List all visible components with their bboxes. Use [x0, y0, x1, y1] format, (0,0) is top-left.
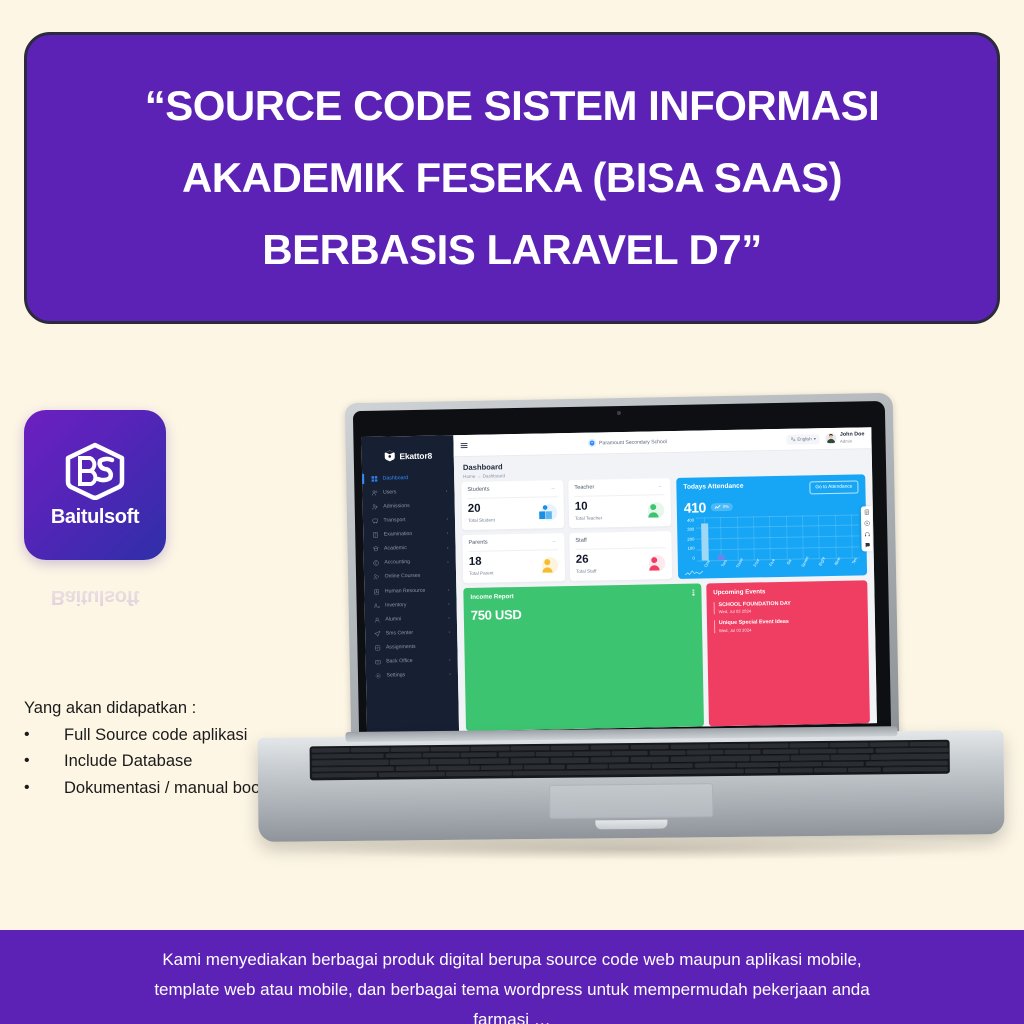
keyboard-key	[630, 757, 669, 763]
keyboard-key	[745, 769, 778, 775]
chevron-right-icon: ›	[448, 587, 450, 593]
sidebar-item-label: Transport	[383, 517, 441, 525]
sidebar-item-label: Human Resource	[385, 587, 443, 595]
keyboard-key	[498, 752, 534, 758]
stat-value: 20	[468, 504, 495, 516]
attendance-trend-value: 0%	[723, 504, 729, 509]
keyboard-key	[611, 751, 647, 757]
attendance-card: Todays Attendance Go to Attendance 410 0…	[676, 474, 867, 579]
footer-banner: Kami menyediakan berbagai produk digital…	[0, 930, 1024, 1024]
keyboard-key	[791, 755, 830, 761]
laptop-base	[257, 730, 1004, 842]
keyboard-key	[780, 762, 821, 768]
bar-slot	[777, 515, 794, 558]
keyboard-key	[438, 765, 479, 771]
sparkline-icon	[685, 569, 703, 575]
keyboard-key	[379, 772, 445, 778]
keyboard-key	[390, 760, 429, 766]
chevron-right-icon: ›	[449, 658, 451, 664]
keyboard-key	[737, 762, 778, 768]
laptop-mockup: Ekattor8 Dashboard Users › Admiss	[258, 398, 1004, 868]
translate-icon	[790, 437, 795, 442]
keyboard-key	[687, 750, 723, 756]
grid-icon	[371, 475, 378, 482]
keyboard-key	[574, 751, 610, 757]
alumni-icon	[374, 616, 381, 623]
sidebar-item-label: Online Courses	[385, 573, 445, 581]
keyboard-key	[470, 759, 509, 765]
laptop-screen: Ekattor8 Dashboard Users › Admiss	[353, 401, 891, 739]
stat-subtitle: Total Student	[468, 517, 495, 523]
keyboard-key	[511, 745, 550, 751]
accounting-icon	[373, 560, 380, 567]
stat-card-students[interactable]: Students → 20 Total Student	[461, 480, 564, 530]
keyboard-key	[609, 764, 650, 770]
keyboard-key	[814, 768, 847, 774]
keyboard-key	[395, 766, 436, 772]
chevron-right-icon: ›	[446, 517, 448, 523]
stat-card-parents[interactable]: Parents → 18 Total Parent	[462, 533, 565, 583]
chat-icon[interactable]	[864, 542, 870, 548]
stat-card-staff[interactable]: Staff 26 Total Staff	[569, 531, 672, 581]
event-date: Wed, Jul 03 2024	[719, 606, 861, 614]
inventory-icon	[374, 602, 381, 609]
footer-line-3: farmasi …	[473, 1006, 550, 1024]
upcoming-events-card: Upcoming Events SCHOOL FOUNDATION DAY We…	[706, 580, 870, 727]
events-title: Upcoming Events	[713, 586, 860, 596]
income-value: 750 USD	[471, 603, 695, 622]
chevron-right-icon: ›	[448, 601, 450, 607]
keyboard-key	[694, 763, 735, 769]
app-sidebar: Ekattor8 Dashboard Users › Admiss	[361, 435, 459, 733]
webcam-icon	[617, 411, 621, 415]
arrow-right-icon[interactable]: →	[549, 538, 558, 545]
assignment-icon	[374, 645, 381, 652]
stat-value: 26	[576, 555, 597, 567]
bar-slot	[745, 516, 762, 559]
keyboard-key	[431, 746, 470, 752]
headset-icon[interactable]	[864, 531, 870, 537]
keyboard-key	[838, 748, 874, 754]
keyboard-key	[550, 745, 589, 751]
app-main: Paramount Secondary School English ▾	[453, 427, 877, 731]
y-tick: 400	[687, 517, 694, 522]
user-role: Admin	[840, 439, 865, 445]
stat-value: 18	[469, 557, 494, 569]
keyboard-key	[630, 744, 669, 750]
app-logo[interactable]: Ekattor8	[362, 442, 455, 472]
sidebar-item-label: Dashboard	[383, 474, 443, 482]
keyboard-key	[391, 747, 430, 753]
exam-icon	[372, 532, 379, 539]
stat-subtitle: Total Parent	[469, 570, 494, 575]
school-name: Paramount Secondary School	[599, 439, 667, 446]
keyboard-key	[649, 750, 685, 756]
stat-title: Students	[467, 487, 489, 493]
school-crest-icon	[587, 438, 596, 447]
headline-banner: “SOURCE CODE SISTEM INFORMASI AKADEMIK F…	[24, 32, 1000, 324]
headline-line-2: AKADEMIK FESEKA (BISA SAAS)	[182, 146, 842, 210]
sidebar-item-label: Sms Center	[386, 629, 444, 637]
attendance-value: 410	[684, 499, 706, 515]
laptop-lid: Ekattor8 Dashboard Users › Admiss	[345, 393, 900, 749]
keyboard-key	[311, 760, 389, 766]
keyboard-key	[871, 754, 949, 760]
keyboard-key	[780, 768, 813, 774]
go-to-attendance-button[interactable]: Go to Attendance	[809, 480, 858, 494]
bar-slot	[696, 517, 713, 560]
x-tick-label: Ten	[850, 556, 864, 567]
parent-icon	[537, 555, 559, 575]
teacher-icon	[643, 500, 665, 520]
keyboard-key	[430, 759, 469, 765]
chevron-right-icon: ›	[449, 672, 451, 678]
stat-value: 10	[575, 502, 602, 514]
hamburger-menu-icon[interactable]	[461, 443, 468, 449]
keyboard-key	[823, 761, 864, 767]
keyboard-key	[762, 749, 798, 755]
chart-plot-area: OneTwoThreeFourFiveSixSevenEightNineTen	[696, 514, 860, 574]
sidebar-item-settings[interactable]: Settings ›	[366, 667, 458, 683]
income-report-card: Income Report 750 USD	[463, 583, 703, 731]
bus-icon	[372, 518, 379, 525]
keyboard-key	[311, 766, 394, 772]
keyboard-key	[750, 743, 789, 749]
keyboard-key	[566, 764, 607, 770]
dashboard-app: Ekattor8 Dashboard Users › Admiss	[361, 427, 877, 733]
bar-slot	[712, 516, 729, 559]
laptop-latch	[595, 820, 667, 830]
keyboard-key	[590, 745, 629, 751]
chevron-right-icon: ›	[447, 531, 449, 537]
keyboard-key	[550, 758, 589, 764]
avatar	[826, 433, 837, 444]
sidebar-item-label: Back Office	[386, 657, 444, 665]
keyboard-key	[481, 765, 522, 771]
keyboard-key	[590, 757, 629, 763]
keyboard-key	[524, 765, 565, 771]
bar-slot	[729, 516, 746, 559]
sidebar-item-label: Examination	[384, 531, 442, 539]
keyboard-key	[385, 753, 421, 759]
keyboard-key	[831, 755, 870, 761]
brand-tile: Baitulsoft	[24, 410, 166, 560]
bar-slot	[810, 515, 827, 558]
headline-line-3: BERBASIS LARAVEL D7”	[262, 218, 762, 282]
arrow-right-icon[interactable]: →	[655, 483, 664, 490]
bar-slot	[794, 515, 811, 558]
keyboard-key	[800, 749, 836, 755]
stat-title: Staff	[575, 538, 587, 544]
app-logo-text: Ekattor8	[399, 450, 432, 461]
sidebar-item-label: Academic	[384, 545, 442, 553]
arrow-right-icon[interactable]	[656, 536, 665, 543]
list-item[interactable]: SCHOOL FOUNDATION DAY Wed, Jul 03 2024	[713, 599, 860, 614]
brand-reflection: Baitulsoft	[24, 562, 166, 608]
brand-reflection-name: Baitulsoft	[51, 585, 139, 608]
chart-bars	[696, 514, 860, 560]
keyboard-key	[311, 747, 350, 753]
event-date: Wed, Jul 03 2024	[719, 625, 861, 633]
chart-y-axis: 400 300 200 100 0	[684, 517, 697, 574]
language-label: English	[797, 436, 811, 441]
keyboard-key	[536, 752, 572, 758]
chart-x-axis: OneTwoThreeFourFiveSixSevenEightNineTen	[697, 557, 860, 574]
stat-title: Teacher	[574, 485, 594, 491]
bottom-row: Income Report 750 USD Upcoming Events SC…	[456, 575, 877, 731]
chevron-right-icon: ›	[447, 559, 449, 565]
kebab-menu-icon[interactable]	[693, 589, 694, 595]
bar-slot	[826, 514, 843, 557]
y-tick: 300	[687, 527, 694, 532]
keyboard-key	[882, 767, 948, 773]
list-item[interactable]: Unique Special Event Ideas Wed, Jul 03 2…	[714, 617, 861, 632]
keyboard-key	[830, 742, 869, 748]
chevron-down-icon: ▾	[814, 436, 816, 442]
keyboard-key	[870, 742, 909, 748]
stat-card-teacher[interactable]: Teacher → 10 Total Teacher	[568, 478, 671, 528]
keyboard-key	[423, 753, 459, 759]
y-tick: 200	[687, 536, 694, 541]
floating-dock	[861, 506, 873, 551]
keyboard-key	[790, 742, 829, 748]
keyboard-key	[865, 761, 948, 767]
sidebar-item-label: Admissions	[383, 502, 443, 510]
school-identity: Paramount Secondary School	[473, 435, 780, 450]
backoffice-icon	[375, 659, 382, 666]
stat-title: Parents	[468, 540, 487, 546]
sidebar-item-label: Inventory	[385, 601, 443, 609]
course-icon	[373, 574, 380, 581]
sidebar-item-label: Settings	[386, 672, 444, 680]
dashboard-grid: Students → 20 Total Student	[454, 474, 874, 583]
keyboard-key	[510, 758, 549, 764]
academic-icon	[372, 546, 379, 553]
keyboard-key	[311, 754, 384, 760]
keyboard-key	[652, 763, 693, 769]
stat-subtitle: Total Staff	[576, 568, 596, 573]
chevron-right-icon: ›	[447, 545, 449, 551]
keyboard-key	[670, 757, 709, 763]
keyboard-key	[710, 743, 749, 749]
hr-icon	[373, 588, 380, 595]
keyboard-key	[461, 752, 497, 758]
laptop-keyboard	[310, 740, 950, 781]
keyboard-key	[513, 769, 744, 777]
attendance-chart: 400 300 200 100 0 OneTwoThreeFourFiveS	[684, 512, 860, 574]
admission-icon	[372, 504, 379, 511]
income-title: Income Report	[470, 589, 694, 600]
student-book-icon	[536, 502, 558, 522]
bar-slot	[761, 516, 778, 559]
sidebar-item-label: Users	[383, 488, 441, 496]
chart-bar	[701, 523, 709, 560]
staff-icon	[644, 553, 666, 573]
keyboard-key	[848, 768, 881, 774]
laptop-trackpad	[549, 783, 713, 819]
gear-icon	[375, 673, 382, 680]
chevron-right-icon: ›	[448, 615, 450, 621]
sidebar-item-label: Accounting	[384, 559, 442, 567]
keyboard-key	[351, 747, 390, 753]
attendance-title: Todays Attendance	[683, 482, 743, 490]
headline-line-1: “SOURCE CODE SISTEM INFORMASI	[145, 74, 880, 138]
keyboard-key	[471, 746, 510, 752]
chevron-right-icon: ›	[446, 488, 448, 494]
users-icon	[371, 490, 378, 497]
keyboard-key	[875, 748, 948, 754]
stat-subtitle: Total Teacher	[575, 515, 602, 521]
keyboard-key	[909, 741, 948, 747]
keyboard-key	[670, 744, 709, 750]
laptop-shadow	[274, 838, 990, 860]
brand-name: Baitulsoft	[51, 506, 139, 529]
keyboard-key	[751, 756, 790, 762]
send-icon	[374, 630, 381, 637]
sidebar-item-label: Alumni	[385, 615, 443, 623]
keyboard-key	[711, 756, 750, 762]
play-circle-icon[interactable]	[864, 520, 870, 526]
graduation-shield-icon	[383, 449, 395, 462]
document-icon[interactable]	[863, 509, 869, 515]
keyboard-key	[725, 750, 761, 756]
user-menu[interactable]: John Doe Admin	[826, 432, 865, 445]
chevron-right-icon: ›	[448, 629, 450, 635]
y-tick: 100	[688, 546, 695, 551]
trend-line-icon	[715, 505, 721, 509]
footer-line-1: Kami menyediakan berbagai produk digital…	[162, 946, 861, 974]
keyboard-key	[446, 772, 512, 778]
keyboard-key	[311, 773, 377, 779]
stat-cards: Students → 20 Total Student	[461, 478, 673, 583]
footer-line-2: template web atau mobile, dan berbagai t…	[154, 976, 869, 1004]
attendance-trend-badge: 0%	[711, 502, 733, 510]
arrow-right-icon[interactable]: →	[548, 485, 557, 492]
brand-logo: Baitulsoft Baitulsoft	[24, 410, 166, 560]
language-selector[interactable]: English ▾	[786, 434, 820, 445]
y-tick: 0	[692, 555, 694, 560]
sidebar-item-label: Assignments	[386, 643, 446, 651]
bar-slot	[843, 514, 860, 557]
bs-monogram-icon	[62, 442, 128, 500]
